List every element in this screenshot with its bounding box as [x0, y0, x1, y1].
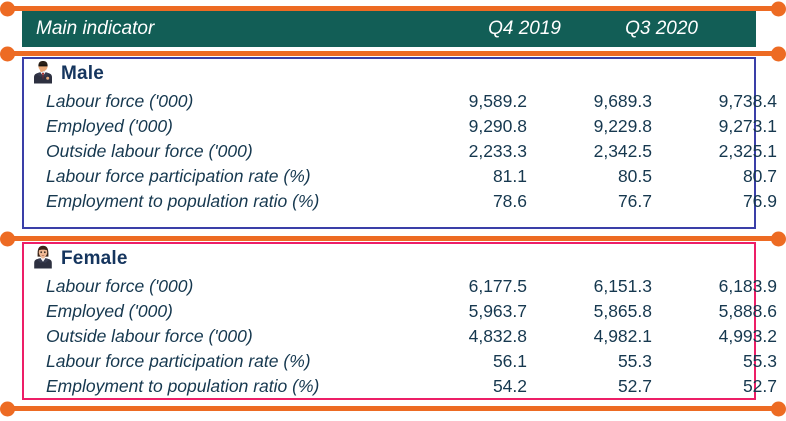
group-panel-female: Female Labour force ('000) 6,177.5 6,151…: [22, 242, 756, 400]
table-row: Labour force ('000) 6,177.5 6,151.3 6,18…: [24, 274, 754, 299]
row-label: Employment to population ratio (%): [24, 376, 414, 397]
row-value: 6,151.3: [539, 276, 664, 297]
bar-dot-right: [771, 46, 786, 61]
row-value: 54.2: [414, 376, 539, 397]
header-col-0: Q4 2019: [436, 18, 573, 40]
row-value: 5,963.7: [414, 301, 539, 322]
header-main-indicator: Main indicator: [22, 18, 436, 40]
decorative-bar-under-header: [14, 51, 772, 56]
row-label: Labour force ('000): [24, 276, 414, 297]
row-value: 9,589.2: [414, 91, 539, 112]
bar-dot-left: [0, 46, 15, 61]
header-col-1: Q3 2020: [573, 18, 710, 40]
row-label: Employed ('000): [24, 116, 414, 137]
row-label: Labour force ('000): [24, 91, 414, 112]
table-row: Labour force participation rate (%) 56.1…: [24, 349, 754, 374]
row-value: 78.6: [414, 191, 539, 212]
row-value: 55.3: [539, 351, 664, 372]
table-row: Labour force ('000) 9,589.2 9,689.3 9,73…: [24, 89, 754, 114]
group-label-female: Female: [61, 248, 128, 270]
row-label: Outside labour force ('000): [24, 141, 414, 162]
row-value: 2,342.5: [539, 141, 664, 162]
row-value: 76.9: [664, 191, 786, 212]
table-row: Outside labour force ('000) 4,832.8 4,98…: [24, 324, 754, 349]
row-value: 6,183.9: [664, 276, 786, 297]
table-row: Employed ('000) 9,290.8 9,229.8 9,273.1: [24, 114, 754, 139]
row-value: 52.7: [539, 376, 664, 397]
row-value: 9,290.8: [414, 116, 539, 137]
row-value: 9,738.4: [664, 91, 786, 112]
row-value: 4,993.2: [664, 326, 786, 347]
table-row: Outside labour force ('000) 2,233.3 2,34…: [24, 139, 754, 164]
row-value: 76.7: [539, 191, 664, 212]
bar-dot-left: [0, 401, 15, 416]
row-label: Labour force participation rate (%): [24, 351, 414, 372]
row-value: 2,233.3: [414, 141, 539, 162]
row-value: 5,865.8: [539, 301, 664, 322]
row-label: Labour force participation rate (%): [24, 166, 414, 187]
row-value: 2,325.1: [664, 141, 786, 162]
row-value: 9,689.3: [539, 91, 664, 112]
row-value: 56.1: [414, 351, 539, 372]
bar-dot-right: [771, 1, 786, 16]
table-header: Main indicator Q4 2019 Q3 2020 Q4 2020: [22, 11, 756, 47]
bar-dot-left: [0, 1, 15, 16]
bar-dot-right: [771, 231, 786, 246]
row-value: 55.3: [664, 351, 786, 372]
row-value: 4,982.1: [539, 326, 664, 347]
row-value: 5,888.6: [664, 301, 786, 322]
row-value: 80.7: [664, 166, 786, 187]
group-title-male: Male: [24, 59, 754, 89]
row-value: 4,832.8: [414, 326, 539, 347]
row-label: Outside labour force ('000): [24, 326, 414, 347]
table-row: Labour force participation rate (%) 81.1…: [24, 164, 754, 189]
row-value: 80.5: [539, 166, 664, 187]
group-title-female: Female: [24, 244, 754, 274]
row-value: 9,229.8: [539, 116, 664, 137]
row-label: Employment to population ratio (%): [24, 191, 414, 212]
businesswoman-icon: [32, 245, 54, 274]
row-label: Employed ('000): [24, 301, 414, 322]
header-col-2: Q4 2020: [710, 18, 786, 40]
bar-dot-right: [771, 401, 786, 416]
row-value: 81.1: [414, 166, 539, 187]
row-value: 52.7: [664, 376, 786, 397]
table-row: Employment to population ratio (%) 78.6 …: [24, 189, 754, 214]
table-row: Employed ('000) 5,963.7 5,865.8 5,888.6: [24, 299, 754, 324]
bar-dot-left: [0, 231, 15, 246]
row-value: 6,177.5: [414, 276, 539, 297]
decorative-bar-between-groups: [14, 236, 772, 241]
table-row: Employment to population ratio (%) 54.2 …: [24, 374, 754, 399]
row-value: 9,273.1: [664, 116, 786, 137]
group-label-male: Male: [61, 63, 104, 85]
businessman-icon: [32, 60, 54, 89]
group-panel-male: Male Labour force ('000) 9,589.2 9,689.3…: [22, 57, 756, 229]
decorative-bar-bottom: [14, 406, 772, 411]
